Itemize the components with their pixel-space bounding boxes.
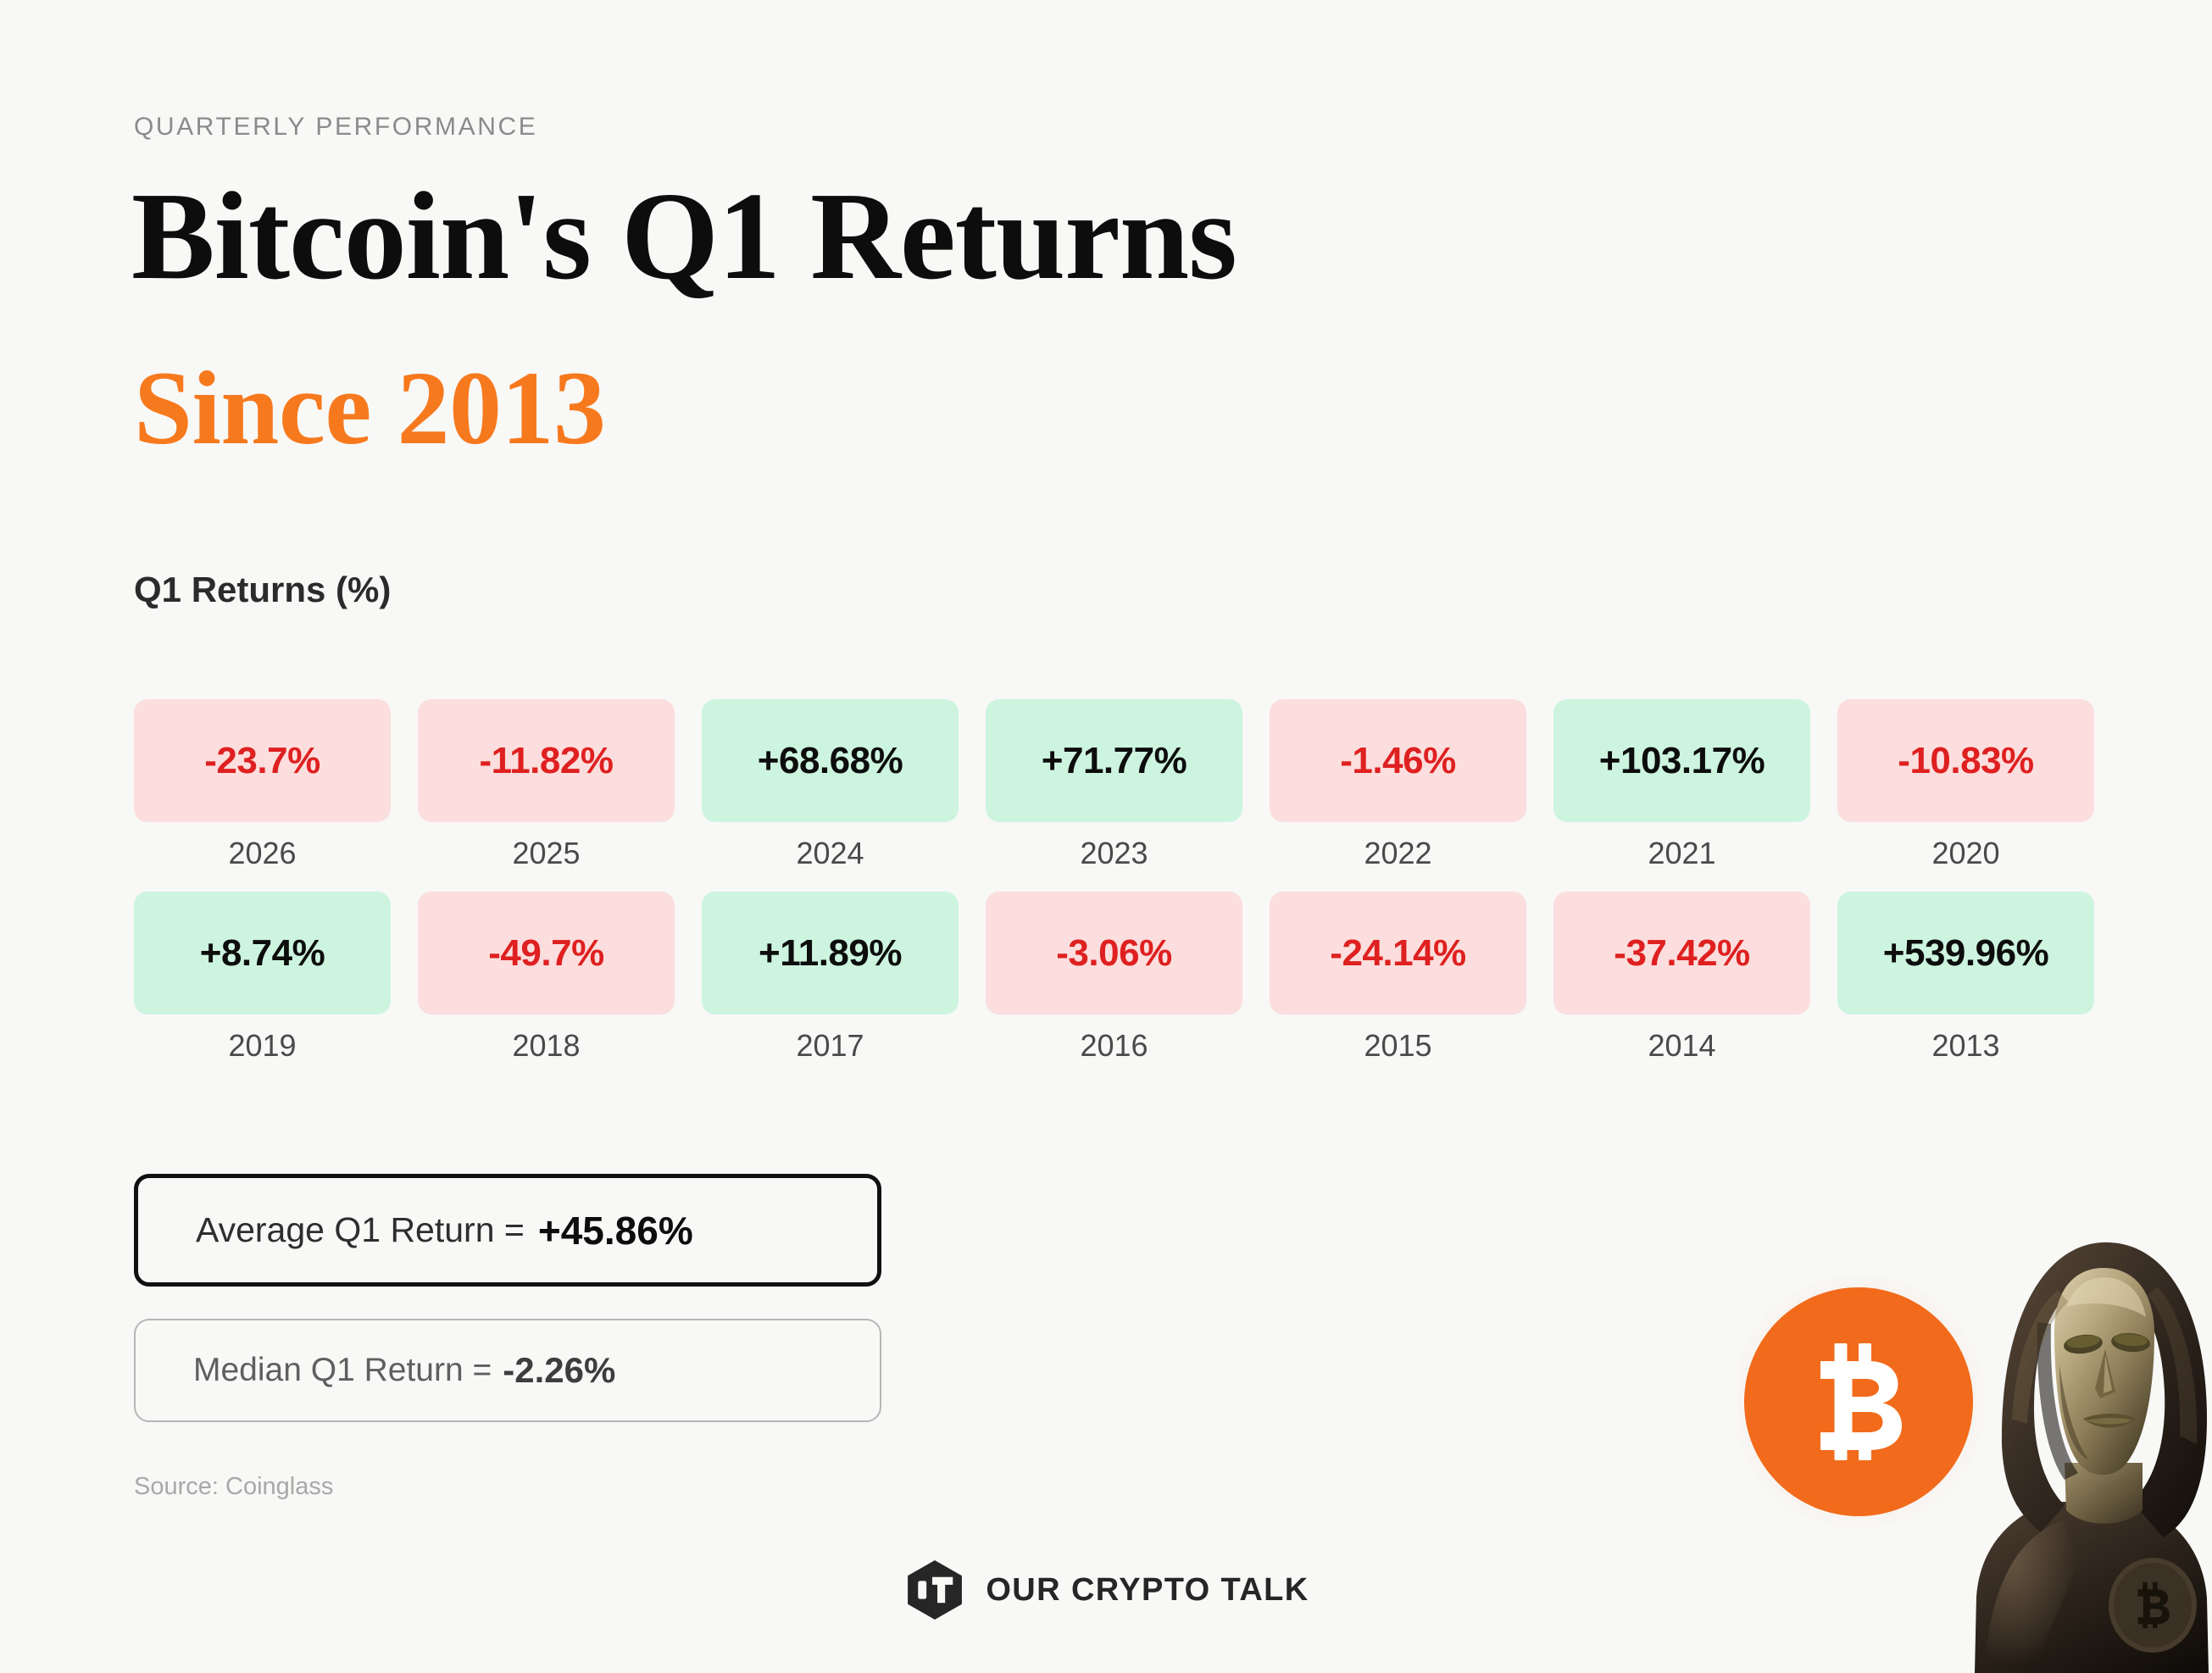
chart-axis-label: Q1 Returns (%) [134,570,391,610]
bitcoin-glow [1737,1270,1990,1533]
return-year-label: 2018 [418,1028,675,1064]
bitcoin-b-icon [1744,1287,1973,1516]
return-card: -3.06% [986,892,1242,1014]
return-year-label: 2024 [702,836,959,871]
return-year-label: 2013 [1837,1028,2094,1064]
median-return-label: Median Q1 Return = [193,1352,492,1389]
return-card: -11.82% [418,699,675,822]
return-cell: -23.7%2026 [134,699,391,871]
return-year-label: 2014 [1553,1028,1810,1064]
return-card: -49.7% [418,892,675,1014]
return-cell: -49.7%2018 [418,892,675,1064]
return-cell: -1.46%2022 [1270,699,1526,871]
return-year-label: 2023 [986,836,1242,871]
median-return-value: -2.26% [503,1350,615,1391]
return-card: +103.17% [1553,699,1810,822]
return-card: -10.83% [1837,699,2094,822]
summary-section: Average Q1 Return = +45.86% Median Q1 Re… [134,1174,881,1422]
return-year-label: 2021 [1553,836,1810,871]
returns-grid: -23.7%2026-11.82%2025+68.68%2024+71.77%2… [134,699,2100,1064]
return-cell: -37.42%2014 [1553,892,1810,1064]
footer-brand-name: OUR CRYPTO TALK [986,1572,1309,1609]
return-cell: +103.17%2021 [1553,699,1810,871]
return-cell: +71.77%2023 [986,699,1242,871]
footer-branding: OUR CRYPTO TALK [0,1558,2212,1622]
return-year-label: 2015 [1270,1028,1526,1064]
page-title: Bitcoin's Q1 Returns [131,174,1237,299]
return-year-label: 2025 [418,836,675,871]
return-cell: +11.89%2017 [702,892,959,1064]
return-card: -24.14% [1270,892,1526,1014]
return-cell: -11.82%2025 [418,699,675,871]
median-return-box: Median Q1 Return = -2.26% [134,1319,881,1422]
return-cell: +68.68%2024 [702,699,959,871]
infographic-page: QUARTERLY PERFORMANCE Bitcoin's Q1 Retur… [0,0,2212,1673]
return-card: -37.42% [1553,892,1810,1014]
source-note: Source: Coinglass [134,1473,333,1501]
return-cell: -24.14%2015 [1270,892,1526,1064]
return-cell: -10.83%2020 [1837,699,2094,871]
return-card: +539.96% [1837,892,2094,1014]
average-return-value: +45.86% [538,1208,693,1253]
return-year-label: 2019 [134,1028,391,1064]
return-year-label: 2022 [1270,836,1526,871]
return-cell: +539.96%2013 [1837,892,2094,1064]
hexagon-oct-logo-icon [903,1558,967,1622]
return-year-label: 2020 [1837,836,2094,871]
return-card: +71.77% [986,699,1242,822]
return-cell: -3.06%2016 [986,892,1242,1064]
return-card: +68.68% [702,699,959,822]
return-card: +11.89% [702,892,959,1014]
return-card: -23.7% [134,699,391,822]
return-cell: +8.74%2019 [134,892,391,1064]
average-return-box: Average Q1 Return = +45.86% [134,1174,881,1287]
return-year-label: 2016 [986,1028,1242,1064]
return-year-label: 2017 [702,1028,959,1064]
return-card: +8.74% [134,892,391,1014]
kicker-label: QUARTERLY PERFORMANCE [134,113,537,142]
return-card: -1.46% [1270,699,1526,822]
average-return-label: Average Q1 Return = [196,1210,525,1250]
page-subtitle: Since 2013 [134,356,605,461]
return-year-label: 2026 [134,836,391,871]
